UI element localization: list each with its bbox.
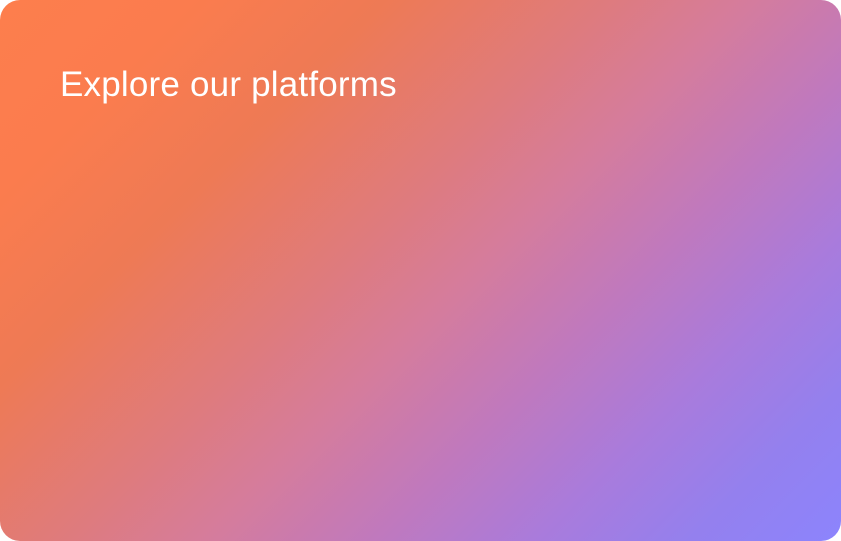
explore-platforms-panel: Explore our platforms [0,0,841,541]
page-title: Explore our platforms [60,63,397,107]
panel-content-area [60,130,781,501]
